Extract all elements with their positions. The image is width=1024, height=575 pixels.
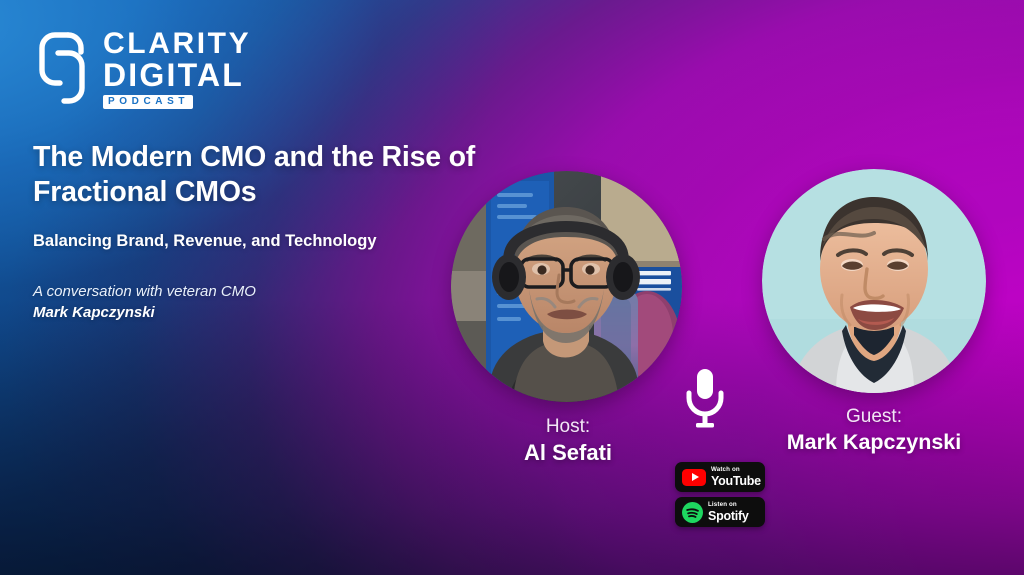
guest-role-label: Guest: [745,405,1003,429]
spotify-badge-small: Listen on [708,502,749,508]
episode-kicker-text: A conversation with veteran CMO [33,283,256,300]
youtube-badge-big: YouTube [711,475,761,488]
brand-podcast-bar: PODCAST [103,95,193,109]
episode-kicker-name: Mark Kapczynski [33,303,433,324]
host-name: Al Sefati [470,439,666,468]
episode-title: The Modern CMO and the Rise of Fractiona… [33,140,503,211]
guest-photo [762,169,986,393]
episode-kicker: A conversation with veteran CMO Mark Kap… [33,282,433,323]
platform-badges: Watch on YouTube Listen on Spotify [675,462,765,527]
youtube-badge-text: Watch on YouTube [711,467,761,487]
microphone-icon [684,368,726,428]
youtube-badge[interactable]: Watch on YouTube [675,462,765,492]
brand-logo: CLARITY DIGITAL PODCAST [34,26,251,110]
host-photo [451,171,682,402]
host-role-label: Host: [470,415,666,439]
brand-line-clarity: CLARITY [103,29,251,58]
youtube-play-icon [682,469,706,486]
brand-wordmark: CLARITY DIGITAL PODCAST [103,27,251,109]
spotify-badge-text: Listen on Spotify [708,502,749,522]
brand-line-digital: DIGITAL [103,59,251,91]
spotify-badge[interactable]: Listen on Spotify [675,497,765,527]
youtube-badge-small: Watch on [711,467,761,473]
guest-name: Mark Kapczynski [745,429,1003,457]
spotify-badge-big: Spotify [708,510,749,523]
brand-line-podcast: PODCAST [108,97,189,107]
cd-monogram-icon [34,26,90,110]
host-name-block: Host: Al Sefati [470,415,666,467]
guest-name-block: Guest: Mark Kapczynski [745,405,1003,457]
spotify-icon [682,502,703,523]
episode-subtitle: Balancing Brand, Revenue, and Technology [33,231,393,253]
podcast-episode-graphic: CLARITY DIGITAL PODCAST The Modern CMO a… [0,0,1024,575]
